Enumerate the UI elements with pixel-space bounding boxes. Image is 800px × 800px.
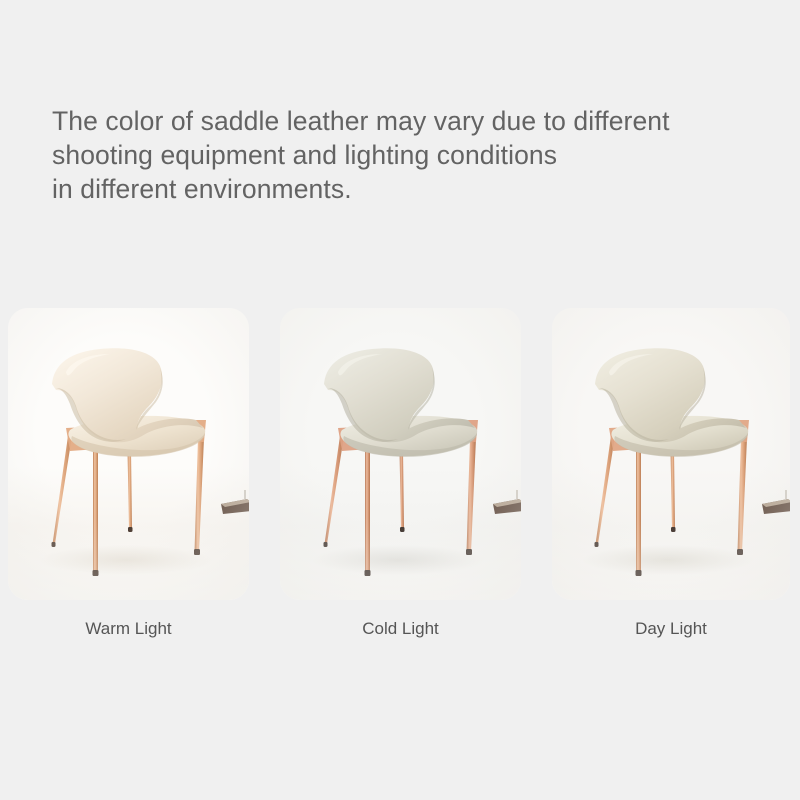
cropped-wood-object xyxy=(221,490,249,516)
lighting-panel-cold-light[interactable] xyxy=(280,308,521,600)
lighting-panel-day-light[interactable] xyxy=(552,308,790,600)
lighting-comparison-gallery xyxy=(0,308,800,600)
chair-illustration xyxy=(552,308,790,600)
chair-illustration xyxy=(280,308,521,600)
panel-caption-warm-light: Warm Light xyxy=(8,618,249,640)
panel-caption-day-light: Day Light xyxy=(552,618,790,640)
panel-photo-warm-light xyxy=(8,308,249,600)
panel-photo-day-light xyxy=(552,308,790,600)
panel-caption-cold-light: Cold Light xyxy=(280,618,521,640)
panel-photo-cold-light xyxy=(280,308,521,600)
chair-illustration xyxy=(8,308,249,600)
cropped-wood-object xyxy=(493,490,521,516)
cropped-wood-object xyxy=(762,490,790,516)
disclaimer-heading: The color of saddle leather may vary due… xyxy=(52,104,772,206)
lighting-panel-warm-light[interactable] xyxy=(8,308,249,600)
